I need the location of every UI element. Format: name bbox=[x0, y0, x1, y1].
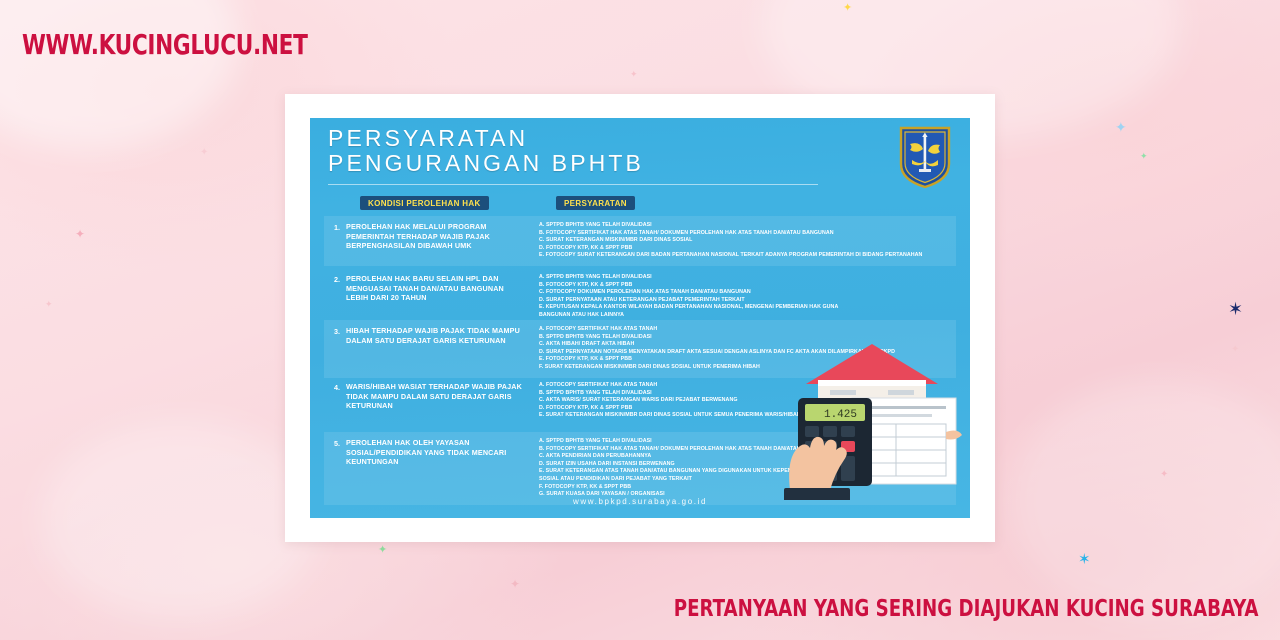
condition-text: WARIS/HIBAH WASIAT TERHADAP WAJIB PAJAK … bbox=[346, 382, 523, 424]
decor-blob bbox=[1010, 380, 1280, 620]
requirement-item: A. SPTPD BPHTB YANG TELAH DIVALIDASI bbox=[539, 274, 948, 282]
condition-cell: 3.HIBAH TERHADAP WAJIB PAJAK TIDAK MAMPU… bbox=[324, 320, 529, 378]
condition-text: PEROLEHAN HAK BARU SELAIN HPL DAN MENGUA… bbox=[346, 274, 523, 320]
requirement-item: B. SPTPD BPHTB YANG TELAH DIVALIDASI bbox=[539, 390, 948, 398]
sparkle-icon: ✦ bbox=[630, 70, 638, 79]
condition-cell: 4.WARIS/HIBAH WASIAT TERHADAP WAJIB PAJA… bbox=[324, 376, 529, 430]
requirement-item: D. SURAT PERNYATAAN ATAU KETERANGAN PEJA… bbox=[539, 297, 948, 305]
sparkle-icon: ✦ bbox=[510, 578, 520, 590]
requirement-item: B. FOTOCOPY KTP, KK & SPPT PBB bbox=[539, 282, 948, 290]
requirement-item: D. FOTOCOPY KTP, KK & SPPT PBB bbox=[539, 405, 948, 413]
decor-blob bbox=[0, 0, 240, 150]
sparkle-icon: ✶ bbox=[1228, 300, 1243, 318]
row-number: 3. bbox=[334, 326, 346, 372]
footer-url: www.bpkpd.surabaya.go.id bbox=[310, 497, 970, 506]
sparkle-icon: ✦ bbox=[1140, 152, 1148, 161]
condition-text: HIBAH TERHADAP WAJIB PAJAK TIDAK MAMPU D… bbox=[346, 326, 523, 372]
table-row: 4.WARIS/HIBAH WASIAT TERHADAP WAJIB PAJA… bbox=[324, 376, 956, 430]
requirement-item: A. SPTPD BPHTB YANG TELAH DIVALIDASI bbox=[539, 438, 948, 446]
decor-blob bbox=[40, 420, 320, 620]
watermark-text: WWW.KUCINGLUCU.NET bbox=[22, 28, 308, 61]
requirement-item: B. FOTOCOPY SERTIFIKAT HAK ATAS TANAH/ D… bbox=[539, 230, 948, 238]
requirements-cell: A. SPTPD BPHTB YANG TELAH DIVALIDASIB. F… bbox=[529, 432, 956, 505]
row-number: 2. bbox=[334, 274, 346, 320]
surabaya-city-emblem-icon bbox=[896, 124, 954, 190]
requirements-cell: A. FOTOCOPY SERTIFIKAT HAK ATAS TANAHB. … bbox=[529, 320, 956, 378]
poster-image: PERSYARATAN PENGURANGAN BPHTB KONDISI PE… bbox=[310, 118, 970, 518]
requirement-item: C. AKTA WARIS/ SURAT KETERANGAN WARIS DA… bbox=[539, 397, 948, 405]
requirement-item: C. AKTA PENDIRIAN DAN PERUBAHANNYA bbox=[539, 453, 948, 461]
requirement-item: E. KEPUTUSAN KEPALA KANTOR WILAYAH BADAN… bbox=[539, 304, 948, 319]
condition-cell: 5.PEROLEHAN HAK OLEH YAYASAN SOSIAL/PEND… bbox=[324, 432, 529, 505]
page-title: PERSYARATAN PENGURANGAN BPHTB bbox=[328, 126, 644, 176]
sparkle-icon: ✶ bbox=[1078, 552, 1091, 567]
column-header-kondisi: KONDISI PEROLEHAN HAK bbox=[360, 196, 489, 210]
requirement-item: C. SURAT KETERANGAN MISKIN/MBR DARI DINA… bbox=[539, 237, 948, 245]
requirement-item: D. SURAT PERNYATAAN NOTARIS MENYATAKAN D… bbox=[539, 349, 948, 357]
condition-cell: 2.PEROLEHAN HAK BARU SELAIN HPL DAN MENG… bbox=[324, 268, 529, 326]
row-number: 1. bbox=[334, 222, 346, 260]
requirements-cell: A. SPTPD BPHTB YANG TELAH DIVALIDASIB. F… bbox=[529, 216, 956, 266]
table-row: 5.PEROLEHAN HAK OLEH YAYASAN SOSIAL/PEND… bbox=[324, 432, 956, 505]
column-header-persyaratan: PERSYARATAN bbox=[556, 196, 635, 210]
requirement-item: B. SPTPD BPHTB YANG TELAH DIVALIDASI bbox=[539, 334, 948, 342]
table-row: 1.PEROLEHAN HAK MELALUI PROGRAM PEMERINT… bbox=[324, 216, 956, 266]
requirement-item: C. AKTA HIBAH/ DRAFT AKTA HIBAH bbox=[539, 341, 948, 349]
condition-text: PEROLEHAN HAK OLEH YAYASAN SOSIAL/PENDID… bbox=[346, 438, 523, 499]
requirement-item: E. FOTOCOPY KTP, KK & SPPT PBB bbox=[539, 356, 948, 364]
sparkle-icon: ✦ bbox=[1115, 120, 1127, 134]
condition-text: PEROLEHAN HAK MELALUI PROGRAM PEMERINTAH… bbox=[346, 222, 523, 260]
requirement-item: E. SURAT KETERANGAN MISKIN/MBR DARI DINA… bbox=[539, 412, 948, 420]
table-row: 2.PEROLEHAN HAK BARU SELAIN HPL DAN MENG… bbox=[324, 268, 956, 326]
sparkle-icon: ✦ bbox=[45, 300, 53, 309]
sparkle-icon: ✦ bbox=[1231, 345, 1239, 355]
condition-cell: 1.PEROLEHAN HAK MELALUI PROGRAM PEMERINT… bbox=[324, 216, 529, 266]
requirement-item: D. SURAT IZIN USAHA DARI INSTANSI BERWEN… bbox=[539, 461, 948, 469]
requirement-item: A. SPTPD BPHTB YANG TELAH DIVALIDASI bbox=[539, 222, 948, 230]
caption-text: PERTANYAAN YANG SERING DIAJUKAN KUCING S… bbox=[673, 596, 1258, 622]
row-number: 5. bbox=[334, 438, 346, 499]
sparkle-icon: ✦ bbox=[1160, 470, 1168, 480]
requirement-item: F. FOTOCOPY KTP, KK & SPPT PBB bbox=[539, 484, 948, 492]
requirement-item: A. FOTOCOPY SERTIFIKAT HAK ATAS TANAH bbox=[539, 382, 948, 390]
sparkle-icon: ✦ bbox=[843, 3, 852, 14]
sparkle-icon: ✦ bbox=[75, 228, 85, 240]
requirement-item: E. FOTOCOPY SURAT KETERANGAN DARI BADAN … bbox=[539, 252, 948, 260]
requirement-item: B. FOTOCOPY SERTIFIKAT HAK ATAS TANAH/ D… bbox=[539, 446, 948, 454]
sparkle-icon: ✦ bbox=[378, 545, 387, 556]
title-divider bbox=[328, 184, 818, 185]
requirement-item: A. FOTOCOPY SERTIFIKAT HAK ATAS TANAH bbox=[539, 326, 948, 334]
requirement-item: F. SURAT KETERANGAN MISKIN/MBR DARI DINA… bbox=[539, 364, 948, 372]
requirement-item: D. FOTOCOPY KTP, KK & SPPT PBB bbox=[539, 245, 948, 253]
page-background: ✦ ✦ ✦ ✶ ✦ ✶ ✦ ✦ ✦ ✦ ✦ ✦ ✦ WWW.KUCINGLUCU… bbox=[0, 0, 1280, 640]
requirements-cell: A. SPTPD BPHTB YANG TELAH DIVALIDASIB. F… bbox=[529, 268, 956, 326]
row-number: 4. bbox=[334, 382, 346, 424]
table-row: 3.HIBAH TERHADAP WAJIB PAJAK TIDAK MAMPU… bbox=[324, 320, 956, 378]
requirement-item: C. FOTOCOPY DOKUMEN PEROLEHAN HAK ATAS T… bbox=[539, 289, 948, 297]
requirement-item: E. SURAT KETERANGAN ATAS TANAH DAN/ATAU … bbox=[539, 468, 948, 483]
requirements-cell: A. FOTOCOPY SERTIFIKAT HAK ATAS TANAHB. … bbox=[529, 376, 956, 430]
sparkle-icon: ✦ bbox=[200, 148, 208, 158]
